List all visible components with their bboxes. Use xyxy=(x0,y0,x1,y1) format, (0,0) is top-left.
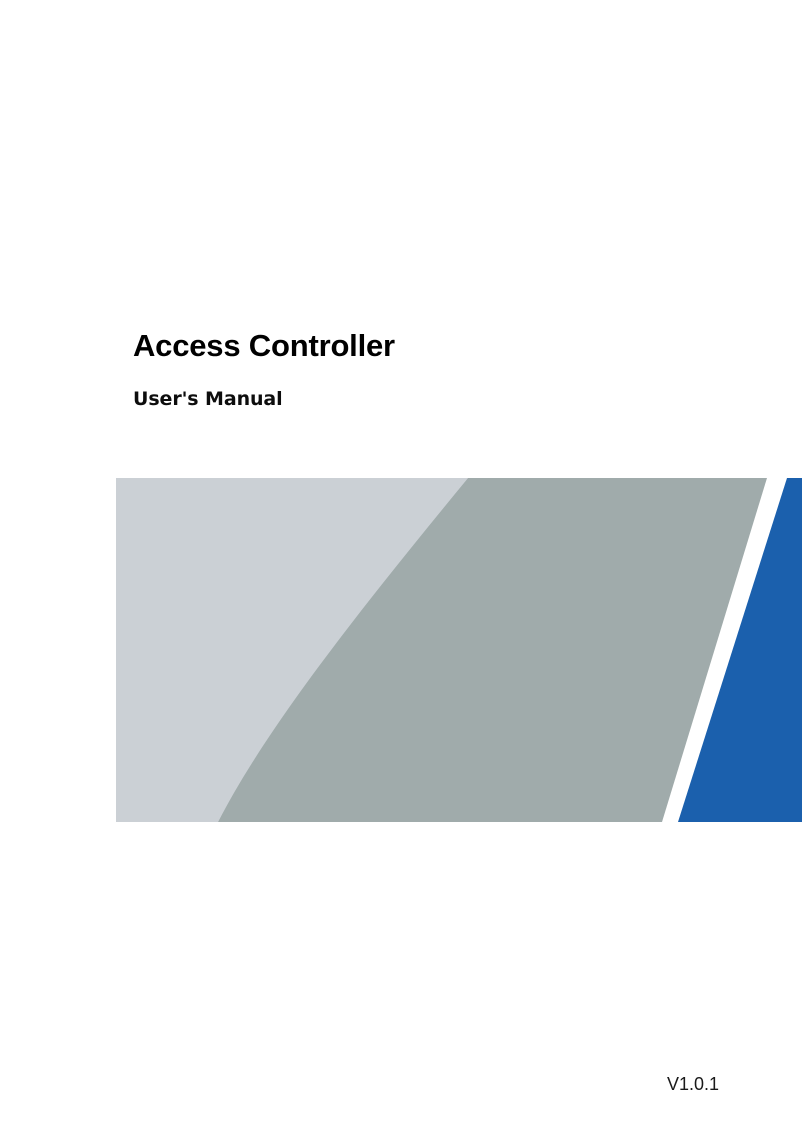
page-subtitle: User's Manual xyxy=(133,365,693,411)
cover-banner-graphic xyxy=(116,478,802,822)
version-label: V1.0.1 xyxy=(0,1073,719,1095)
title-block: Access Controller User's Manual xyxy=(133,327,693,411)
page-title: Access Controller xyxy=(133,327,693,365)
cover-banner-svg xyxy=(116,478,802,822)
document-cover-page: Access Controller User's Manual xyxy=(0,0,802,1134)
